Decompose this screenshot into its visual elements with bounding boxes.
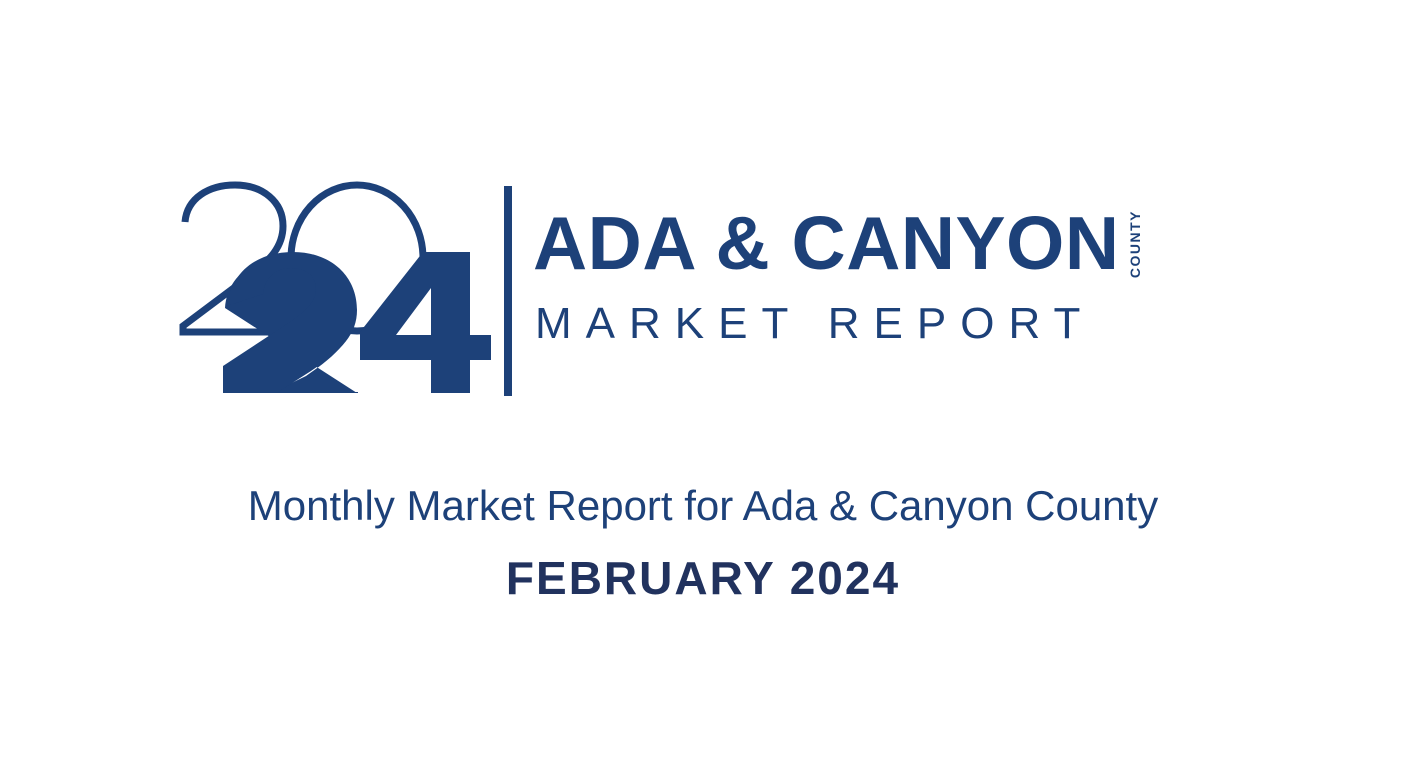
wordmark-top-row: ADA & CANYON COUNTY — [533, 206, 1142, 281]
logo-lockup: ADA & CANYON COUNTY MARKET REPORT — [175, 180, 1235, 400]
logo-year-graphic — [175, 180, 505, 400]
caption-block: Monthly Market Report for Ada & Canyon C… — [0, 482, 1406, 605]
logo-divider-rule — [504, 186, 512, 396]
report-date: FEBRUARY 2024 — [0, 552, 1406, 605]
year-2024-icon — [175, 180, 505, 400]
wordmark-county-label: COUNTY — [1128, 210, 1142, 278]
report-subtitle: Monthly Market Report for Ada & Canyon C… — [0, 482, 1406, 530]
logo-wordmark: ADA & CANYON COUNTY MARKET REPORT — [533, 180, 1233, 400]
wordmark-primary-text: ADA & CANYON — [533, 206, 1120, 281]
wordmark-secondary-text: MARKET REPORT — [535, 302, 1094, 346]
